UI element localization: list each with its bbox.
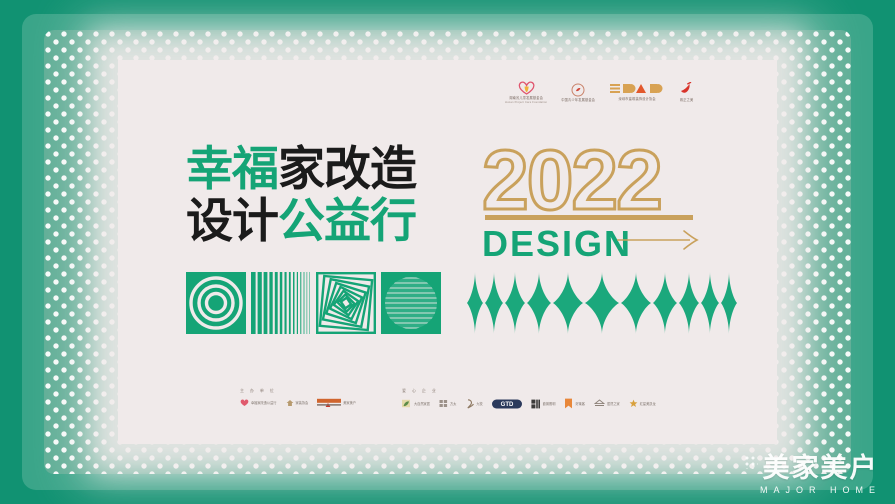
headline-line2-green: 公益行: [278, 194, 416, 247]
logo-sponsor-red: 美家美户: [317, 398, 356, 407]
headline-line1-green: 幸福: [186, 142, 278, 195]
headline-line1-black: 家改造: [278, 142, 416, 195]
bottom-group-partners-logos: 大自然家居 方太 九牧: [402, 398, 656, 409]
logo-brand-3: 九牧: [465, 399, 482, 409]
logo-brand-2-text: 方太: [450, 402, 456, 406]
logo-brand-1: 大自然家居: [402, 399, 430, 408]
logo-brand-3-text: 九牧: [476, 402, 482, 406]
star-mark-icon: [629, 399, 638, 408]
red-block-icon: [317, 398, 341, 407]
sparkle-icon: [701, 272, 719, 334]
sparkle-row: [467, 272, 737, 334]
logo-brand-gtd: GTD: [492, 399, 522, 409]
gtd-wordmark-icon: GTD: [492, 399, 522, 409]
bottom-group-partners-caption: 爱 心 企 业: [402, 388, 656, 394]
concentric-rings-icon: [186, 272, 246, 334]
sparkle-icon: [721, 272, 737, 334]
sparkle-icon: [485, 272, 503, 334]
logo-charity-foundation-cn: 湖南省儿童发展基金会: [509, 96, 543, 100]
logo-sponsor-heart-text: 幸福家改造公益行: [251, 401, 277, 405]
sparkle-icon: [527, 272, 551, 334]
logo-sponsor-heart: 幸福家改造公益行: [240, 398, 277, 407]
logo-brand-8: 红星美凯龙: [629, 399, 656, 408]
sparkle-icon: [585, 272, 619, 334]
headline-line-1: 幸福家改造: [186, 143, 416, 195]
red-bird-icon: [679, 82, 694, 97]
headline-line-2: 设计公益行: [186, 195, 416, 247]
logo-red-cross: 中国青少年发展基金会: [561, 83, 595, 102]
sparkle-icon: [553, 272, 583, 334]
vertical-stripes-icon: [251, 272, 311, 334]
sdad-wordmark-icon: [609, 83, 665, 96]
house-icon: [286, 399, 294, 407]
grid-mark-icon: [439, 399, 448, 408]
logo-brand-1-text: 大自然家居: [414, 402, 430, 406]
sparkle-icon: [679, 272, 699, 334]
block-mark-icon: [531, 399, 541, 409]
logo-charity-foundation-en: Hunan Project Care Foundation: [505, 101, 547, 104]
logo-zhuzheng-art-cn: 珠正之美: [680, 98, 694, 102]
logo-brand-2: 方太: [439, 399, 456, 408]
logo-sponsor-home-text: 家装协会: [296, 401, 309, 405]
top-partner-logos: 湖南省儿童发展基金会 Hunan Project Care Foundation…: [505, 80, 694, 104]
logo-brand-5: 欧普照明: [531, 399, 556, 409]
logo-zhuzheng-art: 珠正之美: [679, 82, 694, 102]
watermark-en: MAJOR HOME: [760, 484, 881, 496]
headline-line2-black: 设计: [186, 194, 278, 247]
logo-sdad-cn: 深圳市建筑装饰设计协会: [619, 97, 656, 101]
bottom-group-organizers-logos: 幸福家改造公益行 家装协会 美家美户: [240, 398, 356, 407]
decorative-pattern-row: [186, 272, 441, 334]
year-underline: [485, 215, 693, 220]
bottom-group-organizers-caption: 主 办 单 位: [240, 388, 356, 394]
sparkle-icon: [505, 272, 525, 334]
logo-brand-6-text: 好莱客: [575, 402, 585, 406]
content-panel: [118, 60, 777, 444]
orange-tag-icon: [564, 398, 573, 409]
lined-circle-icon: [381, 272, 441, 334]
logo-brand-7: 居然之家: [594, 399, 620, 408]
watermark-cn: 美家美户: [760, 453, 881, 483]
sparkle-icon: [467, 272, 483, 334]
svg-text:GTD: GTD: [500, 402, 513, 408]
logo-sponsor-red-text: 美家美户: [343, 401, 356, 405]
leaf-square-icon: [402, 399, 412, 408]
logo-sponsor-home: 家装协会: [286, 399, 309, 407]
year-2022: 2022: [482, 138, 661, 222]
design-wordmark: DESIGN: [482, 226, 632, 262]
logo-sdad: 深圳市建筑装饰设计协会: [609, 83, 665, 101]
poster-canvas: 湖南省儿童发展基金会 Hunan Project Care Foundation…: [0, 0, 895, 504]
spiral-squares-icon: [316, 272, 376, 334]
watermark: 美家美户 MAJOR HOME: [760, 453, 881, 496]
bottom-group-organizers: 主 办 单 位 幸福家改造公益行 家装协会: [240, 388, 356, 407]
logo-charity-foundation: 湖南省儿童发展基金会 Hunan Project Care Foundation: [505, 80, 547, 104]
logo-red-cross-cn: 中国青少年发展基金会: [561, 98, 595, 102]
heart-hands-icon: [518, 80, 535, 95]
arrow-right-icon: [616, 228, 700, 252]
bottom-logo-section: 主 办 单 位 幸福家改造公益行 家装协会: [240, 388, 745, 409]
logo-brand-7-text: 居然之家: [607, 402, 620, 406]
sparkle-icon: [621, 272, 651, 334]
watermark-dots-icon: [744, 455, 758, 469]
house-outline-icon: [594, 399, 605, 408]
logo-brand-6: 好莱客: [564, 398, 585, 409]
logo-brand-8-text: 红星美凯龙: [640, 402, 656, 406]
logo-brand-5-text: 欧普照明: [543, 402, 556, 406]
headline-block: 幸福家改造 设计公益行: [186, 143, 416, 247]
sparkle-icon: [653, 272, 677, 334]
circle-emblem-icon: [571, 83, 585, 97]
seal-icon: [465, 399, 474, 409]
bottom-group-partners: 爱 心 企 业 大自然家居 方太: [402, 388, 656, 409]
heart-ribbon-icon: [240, 398, 249, 407]
